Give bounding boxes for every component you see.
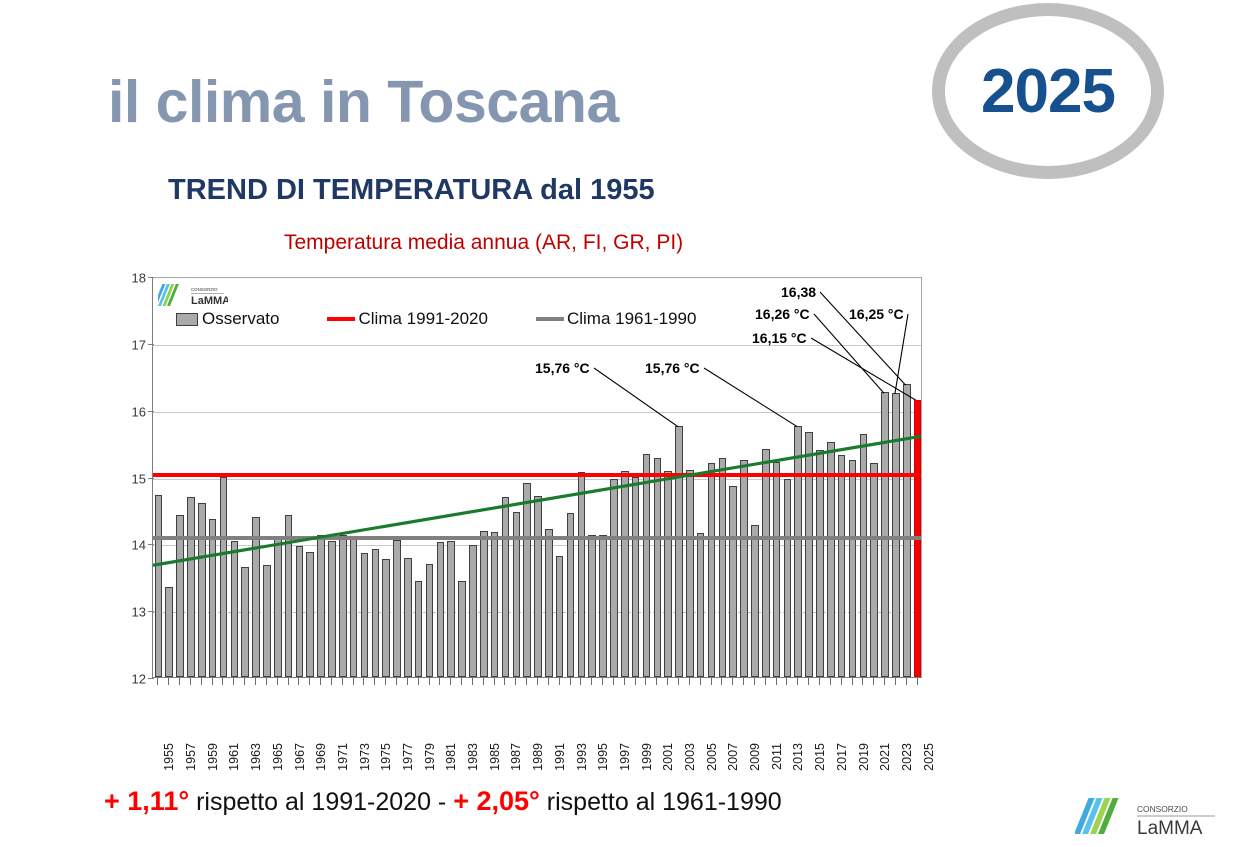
chart-subtitle: Temperatura media annua (AR, FI, GR, PI) <box>284 231 683 255</box>
temperature-trend-chart: 12131415161718 1955195719591961196319651… <box>118 270 930 750</box>
slide-root: il clima in Toscana 2025 TREND DI TEMPER… <box>0 0 1233 847</box>
delta-1961-1990-value: + 2,05° <box>453 786 540 816</box>
section-title: TREND DI TEMPERATURA dal 1955 <box>168 174 655 207</box>
page-title: il clima in Toscana <box>108 68 619 136</box>
delta-1961-1990-text: rispetto al 1961-1990 <box>547 788 782 816</box>
trend-line <box>153 278 921 677</box>
footer-note: + 1,11° rispetto al 1991-2020 - + 2,05° … <box>104 786 782 817</box>
chart-plot-area: 12131415161718 <box>152 277 922 678</box>
lamma-logo-footer: CONSORZIO LaMMA <box>1075 792 1223 840</box>
footer-logo-name: LaMMA <box>1137 818 1203 839</box>
year-badge: 2025 <box>932 3 1164 179</box>
delta-1991-2020-value: + 1,11° <box>104 786 189 816</box>
delta-1991-2020-text: rispetto al 1991-2020 - <box>196 788 453 816</box>
year-badge-label: 2025 <box>981 56 1115 127</box>
footer-logo-top: CONSORZIO <box>1137 804 1188 814</box>
